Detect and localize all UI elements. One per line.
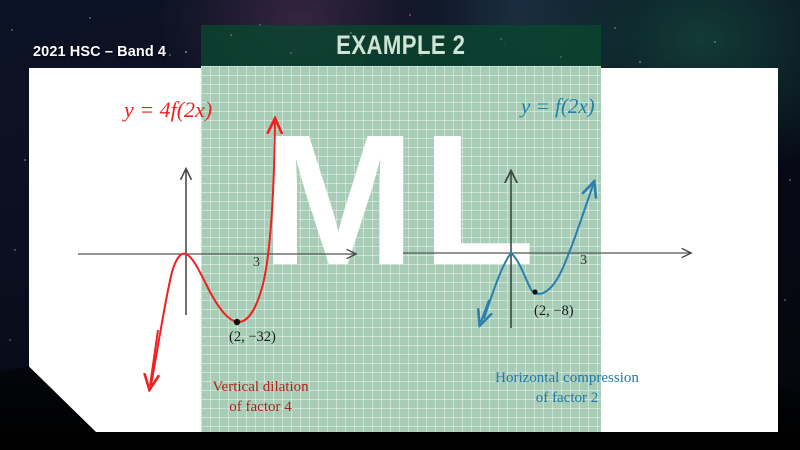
right-caption-line-1: Horizontal compression <box>478 368 656 388</box>
left-turning-point-label: (2, −32) <box>229 329 276 346</box>
exam-source-label: 2021 HSC – Band 4 <box>33 44 166 60</box>
left-caption-line-2: of factor 4 <box>193 397 328 417</box>
ml-watermark: ML <box>201 108 601 294</box>
right-x-tick-label: 3 <box>580 253 587 269</box>
slide-canvas: ML EXAMPLE 2 2021 HSC – Band 4 <box>0 0 800 450</box>
page-title: EXAMPLE 2 <box>336 30 465 61</box>
header-band: EXAMPLE 2 <box>201 25 601 66</box>
right-equation-label: y = f(2x) <box>521 94 595 119</box>
left-caption: Vertical dilation of factor 4 <box>193 377 328 418</box>
right-caption-line-2: of factor 2 <box>478 388 656 408</box>
left-caption-line-1: Vertical dilation <box>193 377 328 397</box>
left-equation-label: y = 4f(2x) <box>124 97 212 123</box>
right-caption: Horizontal compression of factor 2 <box>478 368 656 409</box>
left-x-tick-label: 3 <box>253 255 260 271</box>
right-turning-point-label: (2, −8) <box>534 303 574 320</box>
